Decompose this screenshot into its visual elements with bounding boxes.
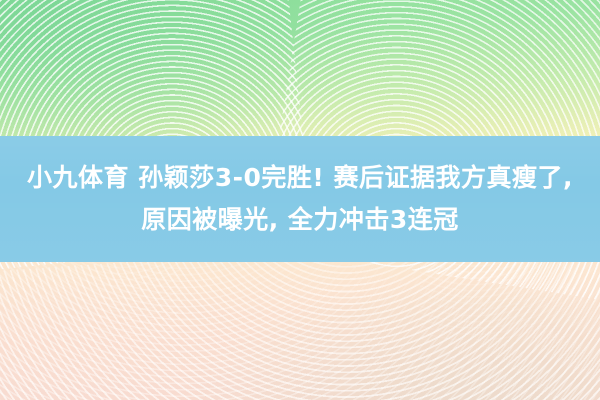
headline-line-1: 小九体育 孙颖莎3-0完胜! 赛后证据我方真瘦了, xyxy=(0,157,600,199)
headline-banner: 小九体育 孙颖莎3-0完胜! 赛后证据我方真瘦了, 原因被曝光, 全力冲击3连冠 xyxy=(0,136,600,262)
headline-line-2: 原因被曝光, 全力冲击3连冠 xyxy=(0,199,600,241)
banner-image: 小九体育 孙颖莎3-0完胜! 赛后证据我方真瘦了, 原因被曝光, 全力冲击3连冠 xyxy=(0,0,600,400)
